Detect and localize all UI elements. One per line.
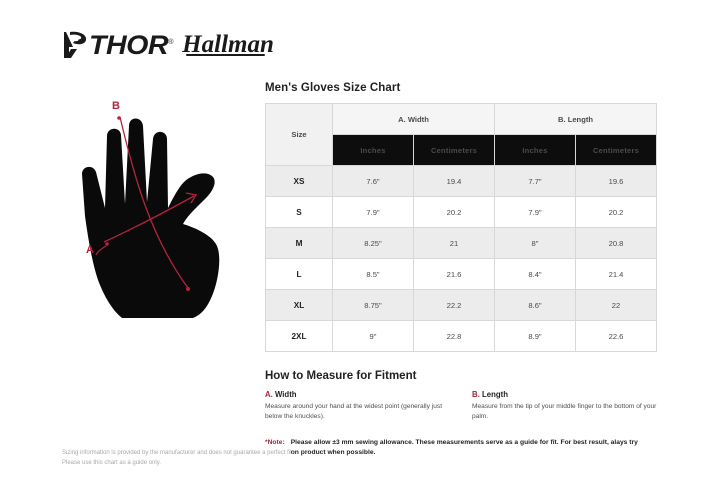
cell-size: XS	[266, 166, 333, 197]
cell-width-in: 7.9"	[333, 197, 414, 228]
cell-length-in: 8.6"	[495, 290, 576, 321]
header-length-inches: Inches	[495, 135, 576, 166]
cell-size: L	[266, 259, 333, 290]
measure-length-text: Measure from the tip of your middle fing…	[472, 402, 657, 422]
cell-width-cm: 20.2	[414, 197, 495, 228]
measure-width-heading: A. Width	[265, 390, 450, 399]
table-row: M 8.25" 21 8" 20.8	[266, 228, 657, 259]
cell-width-cm: 21	[414, 228, 495, 259]
table-row: S 7.9" 20.2 7.9" 20.2	[266, 197, 657, 228]
width-endpoint-dot	[105, 242, 109, 246]
measure-length-heading: B. Length	[472, 390, 657, 399]
header-length-centimeters: Centimeters	[576, 135, 657, 166]
table-header-row-groups: Size A. Width B. Length	[266, 104, 657, 135]
table-body: XS 7.6" 19.4 7.7" 19.6 S 7.9" 20.2 7.9" …	[266, 166, 657, 352]
length-label: B	[112, 100, 120, 112]
measure-width-name: Width	[273, 390, 297, 399]
header-size: Size	[266, 104, 333, 166]
cell-size: XL	[266, 290, 333, 321]
header-width-centimeters: Centimeters	[414, 135, 495, 166]
cell-length-in: 8"	[495, 228, 576, 259]
header-width-inches: Inches	[333, 135, 414, 166]
table-row: XS 7.6" 19.4 7.7" 19.6	[266, 166, 657, 197]
cell-length-in: 8.4"	[495, 259, 576, 290]
table-head: Size A. Width B. Length Inches Centimete…	[266, 104, 657, 166]
table-row: XL 8.75" 22.2 8.6" 22	[266, 290, 657, 321]
disclaimer-line-2: Please use this chart as a guide only.	[62, 458, 392, 468]
hand-measurement-diagram: A B	[60, 96, 260, 328]
measure-length-name: Length	[480, 390, 508, 399]
table-row: 2XL 9" 22.8 8.9" 22.6	[266, 321, 657, 352]
header-group-width: A. Width	[333, 104, 495, 135]
cell-length-in: 7.7"	[495, 166, 576, 197]
length-top-dot	[117, 116, 121, 120]
table-row: L 8.5" 21.6 8.4" 21.4	[266, 259, 657, 290]
cell-width-in: 8.25"	[333, 228, 414, 259]
how-to-measure-section: How to Measure for Fitment A. Width Meas…	[265, 370, 657, 459]
page-title: Men's Gloves Size Chart	[265, 82, 657, 94]
cell-size: M	[266, 228, 333, 259]
cell-length-in: 8.9"	[495, 321, 576, 352]
cell-width-cm: 22.8	[414, 321, 495, 352]
measure-width-letter: A.	[265, 390, 273, 399]
cell-size: 2XL	[266, 321, 333, 352]
cell-width-in: 8.5"	[333, 259, 414, 290]
how-to-measure-title: How to Measure for Fitment	[265, 370, 657, 382]
cell-width-in: 9"	[333, 321, 414, 352]
brand-logo-bar: THOR® Hallman	[62, 30, 274, 60]
hallman-logo: Hallman	[182, 32, 274, 56]
measure-columns: A. Width Measure around your hand at the…	[265, 390, 657, 422]
cell-width-cm: 22.2	[414, 290, 495, 321]
disclaimer-footer: Sizing information is provided by the ma…	[62, 448, 392, 468]
size-chart-table: Size A. Width B. Length Inches Centimete…	[265, 103, 657, 352]
measure-width-column: A. Width Measure around your hand at the…	[265, 390, 450, 422]
width-label: A	[86, 244, 94, 256]
cell-width-in: 7.6"	[333, 166, 414, 197]
cell-width-in: 8.75"	[333, 290, 414, 321]
cell-length-cm: 22.6	[576, 321, 657, 352]
measure-length-column: B. Length Measure from the tip of your m…	[472, 390, 657, 422]
cell-width-cm: 21.6	[414, 259, 495, 290]
thor-hammer-icon	[62, 30, 88, 60]
registered-trademark-icon: ®	[168, 39, 173, 46]
hallman-wordmark: Hallman	[182, 31, 274, 58]
cell-length-cm: 20.8	[576, 228, 657, 259]
thor-wordmark: THOR®	[89, 32, 173, 59]
cell-length-cm: 20.2	[576, 197, 657, 228]
cell-length-in: 7.9"	[495, 197, 576, 228]
cell-width-cm: 19.4	[414, 166, 495, 197]
thor-logo: THOR®	[62, 30, 168, 60]
cell-length-cm: 21.4	[576, 259, 657, 290]
cell-length-cm: 22	[576, 290, 657, 321]
cell-length-cm: 19.6	[576, 166, 657, 197]
header-group-length: B. Length	[495, 104, 657, 135]
disclaimer-line-1: Sizing information is provided by the ma…	[62, 448, 392, 458]
measure-width-text: Measure around your hand at the widest p…	[265, 402, 450, 422]
size-chart-content: Men's Gloves Size Chart Size A. Width B.…	[265, 82, 657, 459]
measure-length-letter: B.	[472, 390, 480, 399]
cell-size: S	[266, 197, 333, 228]
length-bottom-dot	[186, 287, 190, 291]
